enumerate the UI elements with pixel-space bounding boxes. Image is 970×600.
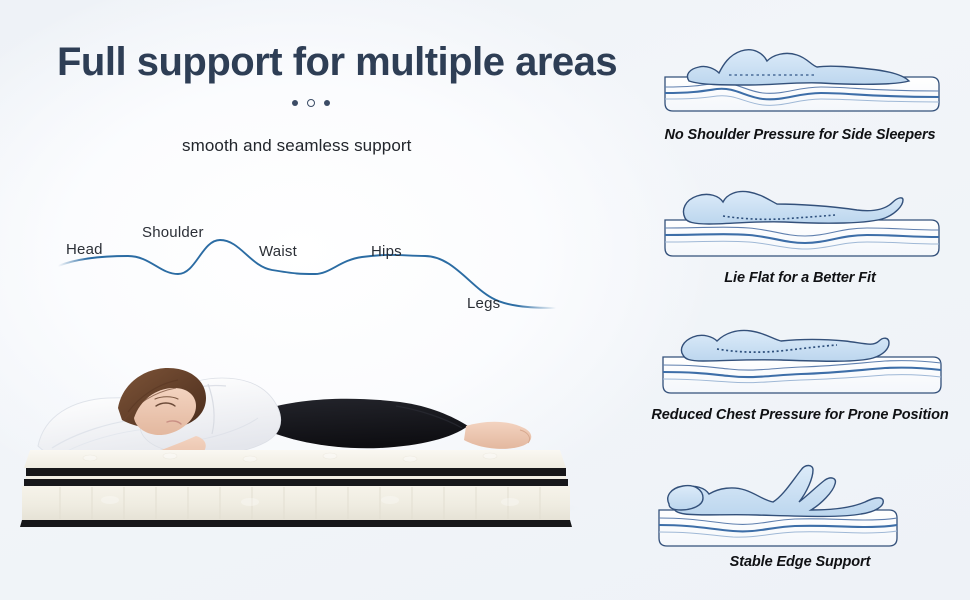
zone-label-shoulder: Shoulder: [142, 224, 204, 241]
body-silhouette: [672, 466, 884, 517]
mattress-bottom-trim: [20, 520, 572, 527]
page-title: Full support for multiple areas: [57, 40, 617, 85]
side-sleeper-illustration: [645, 25, 955, 121]
mattress-outline: [665, 220, 939, 256]
zone-label-hips: Hips: [371, 243, 402, 260]
head: [668, 486, 703, 510]
mattress-quilted-top: [24, 450, 566, 468]
dot-filled-right: [324, 100, 330, 106]
zone-label-waist: Waist: [259, 243, 297, 260]
zone-label-head: Head: [66, 241, 103, 258]
mattress-second-trim: [24, 479, 568, 486]
sleeper-on-mattress-photo: [0, 300, 600, 540]
body-silhouette: [681, 330, 889, 361]
edge-support-illustration: [645, 452, 955, 548]
mattress: [20, 450, 572, 527]
mattress-top-trim: [26, 468, 566, 476]
feet: [464, 422, 531, 449]
feature-caption-edge-support: Stable Edge Support: [645, 554, 955, 570]
pants: [262, 399, 468, 449]
feature-panel-side-sleeper: No Shoulder Pressure for Side Sleepers: [645, 25, 955, 143]
dot-ring-center: [307, 99, 315, 107]
feature-caption-lie-flat: Lie Flat for a Better Fit: [645, 270, 955, 286]
body-silhouette: [684, 191, 904, 224]
feature-panel-edge-support: Stable Edge Support: [645, 452, 955, 570]
feature-panel-prone: Reduced Chest Pressure for Prone Positio…: [645, 305, 955, 423]
dot-filled-left: [292, 100, 298, 106]
body-silhouette: [687, 50, 909, 85]
infographic-page: Full support for multiple areas smooth a…: [0, 0, 970, 600]
back-sleeper-illustration: [645, 168, 955, 264]
feature-panel-lie-flat: Lie Flat for a Better Fit: [645, 168, 955, 286]
feature-caption-side-sleeper: No Shoulder Pressure for Side Sleepers: [645, 127, 955, 143]
prone-sleeper-illustration: [645, 305, 955, 401]
decorative-dots: [292, 99, 330, 107]
page-subtitle: smooth and seamless support: [182, 136, 412, 156]
feature-caption-prone: Reduced Chest Pressure for Prone Positio…: [645, 407, 955, 423]
